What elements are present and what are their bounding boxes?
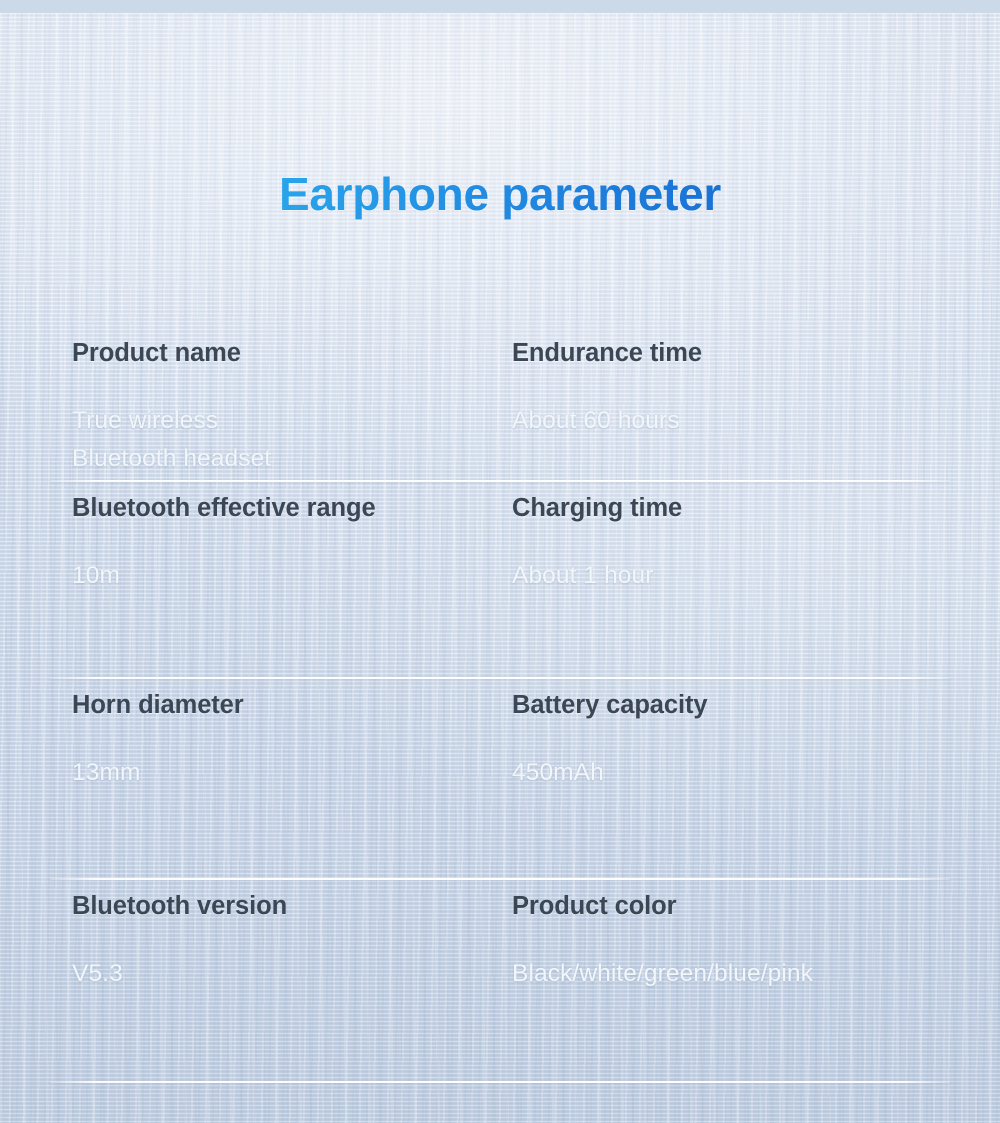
spec-label: Product name	[72, 337, 512, 369]
spec-cell-endurance-time: Endurance time About 60 hours	[512, 327, 952, 482]
spec-value: 450mAh	[512, 754, 952, 792]
page-title: Earphone parameter	[0, 164, 1000, 224]
spec-value: True wireless Bluetooth headset	[72, 402, 512, 478]
spec-cell-product-color: Product color Black/white/green/blue/pin…	[512, 880, 952, 1083]
spec-label: Charging time	[512, 492, 952, 524]
spec-value: About 1 hour	[512, 557, 952, 595]
spec-row: Bluetooth effective range 10m Charging t…	[0, 482, 1000, 679]
spec-cell-charging-time: Charging time About 1 hour	[512, 482, 952, 679]
spec-row: Product name True wireless Bluetooth hea…	[0, 327, 1000, 482]
spec-label: Horn diameter	[72, 689, 512, 721]
spec-value: Black/white/green/blue/pink	[512, 955, 952, 993]
spec-cell-bluetooth-effective-range: Bluetooth effective range 10m	[72, 482, 512, 679]
spec-cell-horn-diameter: Horn diameter 13mm	[72, 679, 512, 880]
spec-value: V5.3	[72, 955, 512, 993]
spec-cell-bluetooth-version: Bluetooth version V5.3	[72, 880, 512, 1083]
spec-cell-product-name: Product name True wireless Bluetooth hea…	[72, 327, 512, 482]
spec-label: Battery capacity	[512, 689, 952, 721]
spec-table: Product name True wireless Bluetooth hea…	[0, 327, 1000, 1083]
spec-label: Product color	[512, 890, 952, 922]
spec-value: 13mm	[72, 754, 512, 792]
spec-value: 10m	[72, 557, 512, 595]
spec-row: Bluetooth version V5.3 Product color Bla…	[0, 880, 1000, 1083]
spec-value: About 60 hours	[512, 402, 952, 440]
product-spec-page: Earphone parameter Product name True wir…	[0, 0, 1000, 1123]
spec-row: Horn diameter 13mm Battery capacity 450m…	[0, 679, 1000, 880]
spec-label: Endurance time	[512, 337, 952, 369]
spec-cell-battery-capacity: Battery capacity 450mAh	[512, 679, 952, 880]
spec-label: Bluetooth version	[72, 890, 512, 922]
spec-label: Bluetooth effective range	[72, 492, 512, 524]
row-divider	[50, 1081, 950, 1083]
